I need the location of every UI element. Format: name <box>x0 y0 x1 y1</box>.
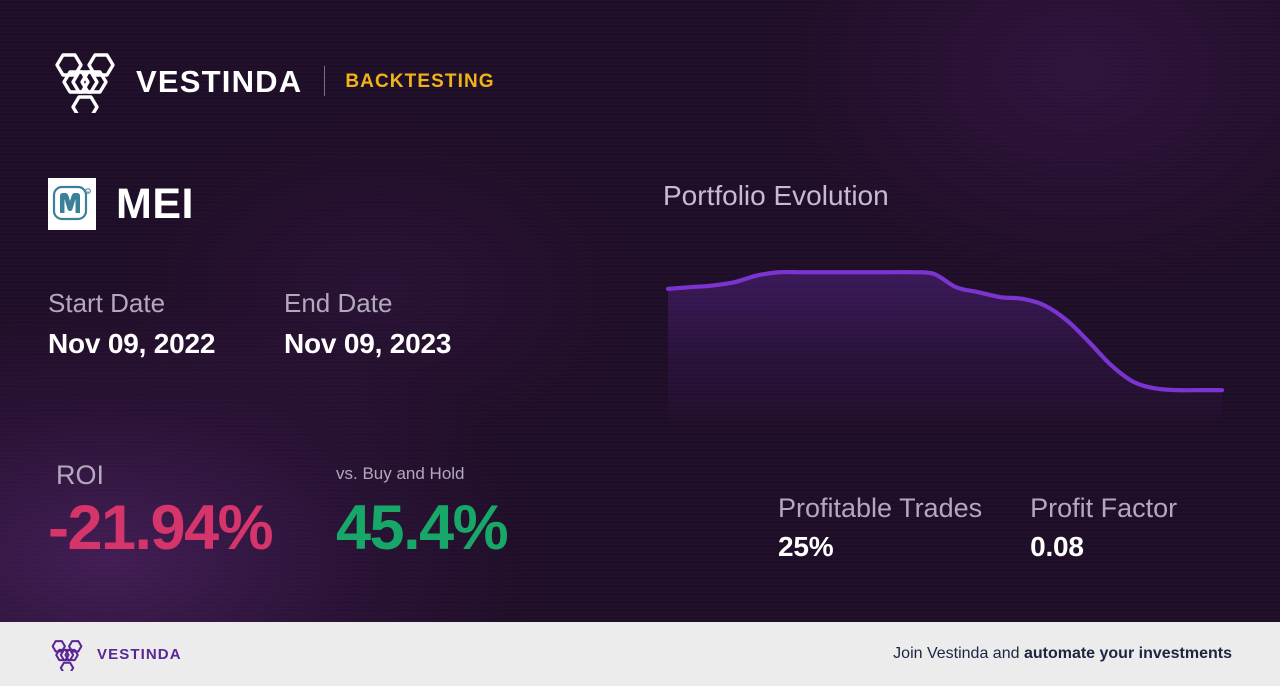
footer-cta-prefix: Join Vestinda and <box>893 645 1024 662</box>
ticker-symbol: MEI <box>116 183 194 226</box>
brand-name: VESTINDA <box>136 66 302 97</box>
footer-brand[interactable]: VESTINDA <box>48 638 182 671</box>
header: VESTINDA BACKTESTING <box>48 48 495 114</box>
metrics-row: Profitable Trades 25% Profit Factor 0.08 <box>778 490 1225 566</box>
date-range: Start Date Nov 09, 2022 End Date Nov 09,… <box>48 286 520 364</box>
svg-text:R: R <box>87 190 90 194</box>
vertical-divider-icon <box>324 66 325 96</box>
mei-company-logo-icon: R <box>48 178 96 230</box>
roi-block: ROI -21.94% <box>48 458 336 564</box>
ticker-header: R MEI <box>48 178 194 230</box>
end-date-value: Nov 09, 2023 <box>284 324 520 364</box>
footer-cta: Join Vestinda and automate your investme… <box>893 646 1232 662</box>
metric-profit-factor: Profit Factor 0.08 <box>1030 490 1177 566</box>
buy-and-hold-label: vs. Buy and Hold <box>336 462 566 486</box>
metric-label: Profit Factor <box>1030 490 1177 526</box>
roi-value: -21.94% <box>48 492 336 564</box>
footer: VESTINDA Join Vestinda and automate your… <box>0 622 1280 686</box>
backtesting-tag: BACKTESTING <box>345 72 494 91</box>
end-date-label: End Date <box>284 286 520 320</box>
metric-value: 0.08 <box>1030 528 1177 566</box>
footer-cta-bold: automate your investments <box>1024 645 1232 662</box>
start-date-block: Start Date Nov 09, 2022 <box>48 286 284 364</box>
vestinda-hexagon-logo-icon <box>48 49 122 113</box>
roi-label: ROI <box>48 458 336 492</box>
end-date-block: End Date Nov 09, 2023 <box>284 286 520 364</box>
metric-value: 25% <box>778 528 982 566</box>
poster-canvas: VESTINDA BACKTESTING R MEI Start Date No… <box>0 0 1280 686</box>
buy-and-hold-value: 45.4% <box>336 492 566 564</box>
chart-svg <box>660 236 1230 426</box>
chart-title: Portfolio Evolution <box>663 178 889 214</box>
vestinda-hexagon-logo-icon <box>48 638 86 671</box>
buy-and-hold-block: vs. Buy and Hold 45.4% <box>336 462 566 564</box>
metric-label: Profitable Trades <box>778 490 982 526</box>
start-date-label: Start Date <box>48 286 284 320</box>
chart-area-fill <box>668 272 1222 420</box>
footer-brand-name: VESTINDA <box>97 647 182 662</box>
metric-profitable-trades: Profitable Trades 25% <box>778 490 982 566</box>
portfolio-evolution-chart <box>660 236 1230 426</box>
performance-summary: ROI -21.94% vs. Buy and Hold 45.4% <box>48 458 566 564</box>
start-date-value: Nov 09, 2022 <box>48 324 284 364</box>
